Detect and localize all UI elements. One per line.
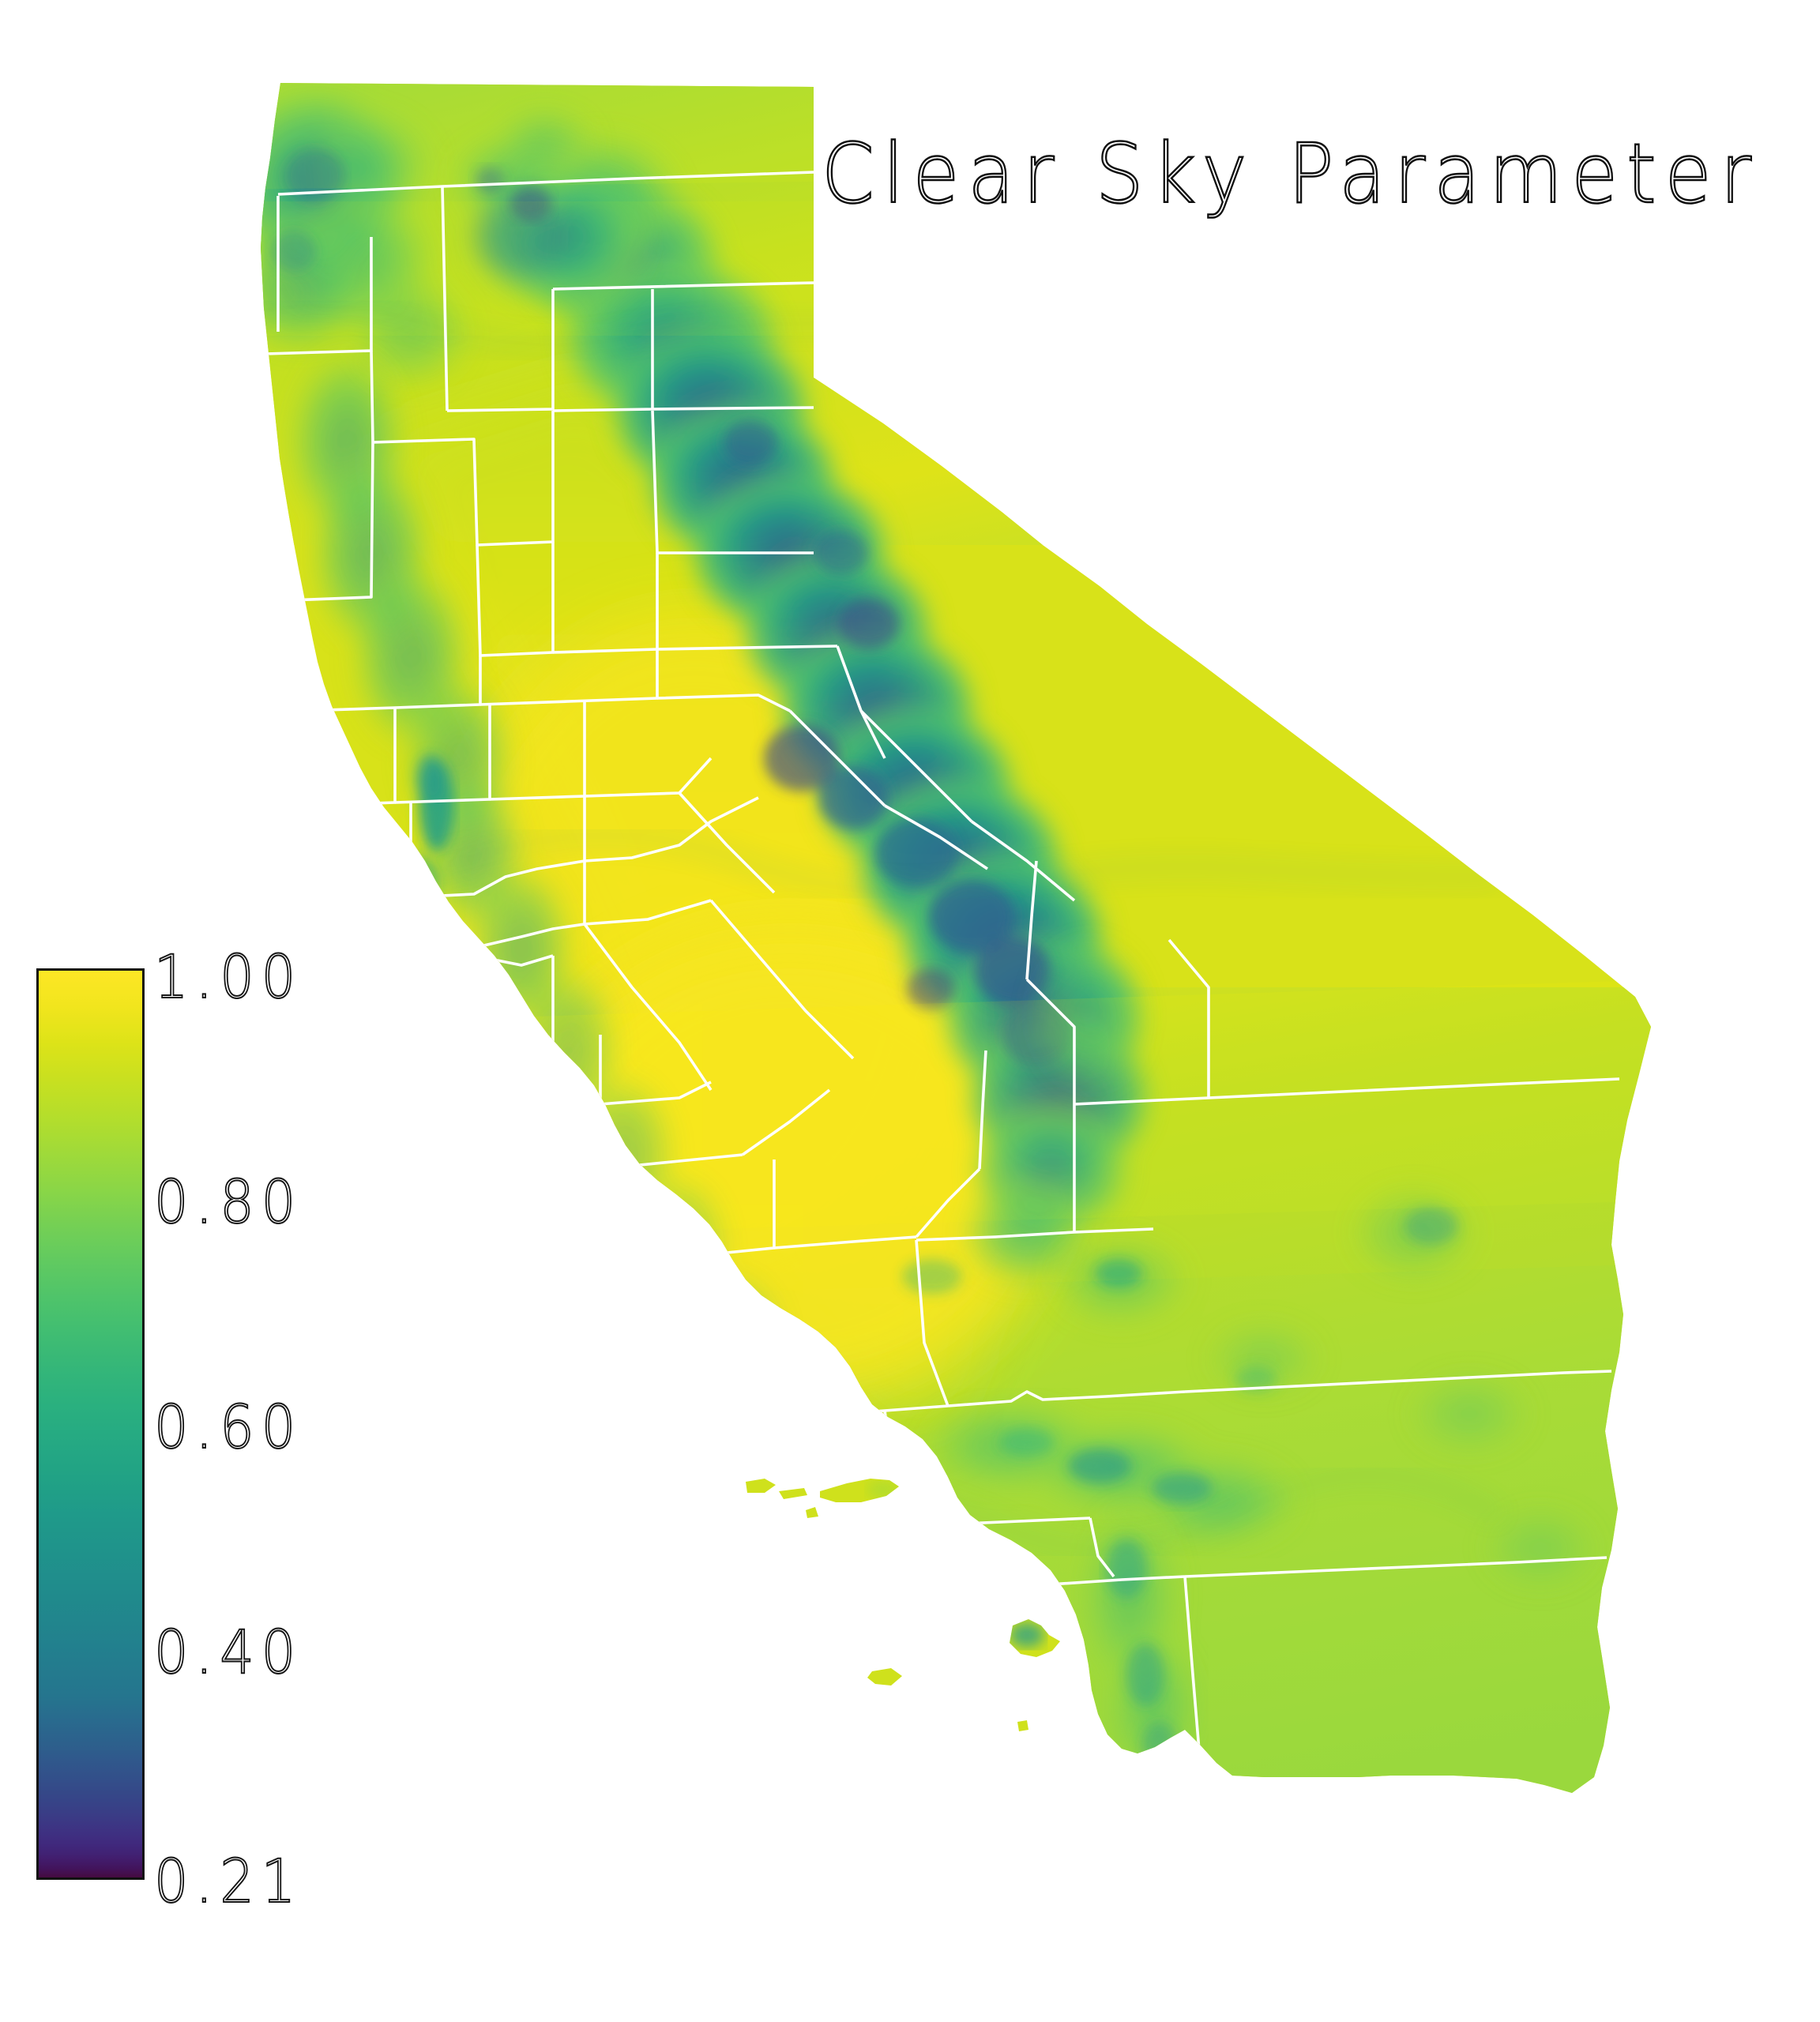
colorbar-tick-3: 0.60 (154, 1392, 303, 1462)
colorbar[interactable] (36, 968, 145, 1880)
map-raster-mainland (221, 71, 1667, 1904)
figure-canvas: Clear Sky Parameter 1.00 0.80 0.60 0.40 … (0, 0, 1820, 2022)
colorbar-tick-5: 0.21 (154, 1846, 303, 1916)
page-title: Clear Sky Parameter (822, 133, 1730, 215)
colorbar-gradient[interactable] (36, 968, 145, 1880)
colorbar-tick-1: 1.00 (154, 941, 303, 1012)
colorbar-tick-4: 0.40 (154, 1617, 303, 1687)
colorbar-tick-2: 0.80 (154, 1167, 303, 1237)
